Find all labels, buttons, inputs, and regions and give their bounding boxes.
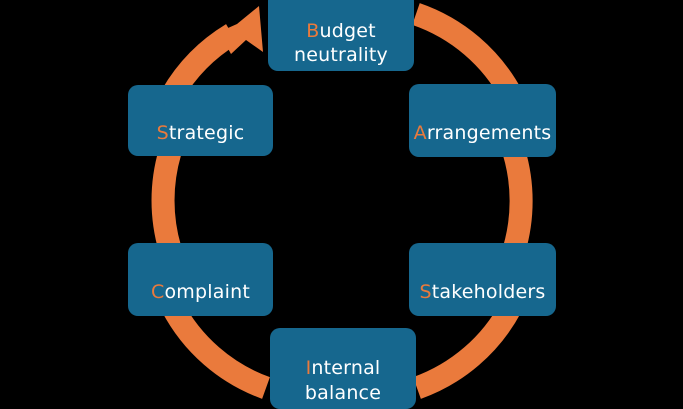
node-arrangements[interactable]: Arrangements [409, 84, 556, 157]
node-arrangements-initial: A [414, 122, 427, 144]
node-strategic[interactable]: Strategic [128, 85, 273, 156]
node-stakeholders-initial: S [420, 281, 432, 303]
node-complaint-text: omplaint [164, 281, 250, 303]
cycle-diagram: Budget neutrality Arrangements Stakehold… [0, 0, 683, 400]
node-complaint[interactable]: Complaint [128, 243, 273, 316]
node-stakeholders[interactable]: Stakeholders [409, 243, 556, 316]
node-strategic-label: Strategic [151, 96, 251, 145]
node-arrangements-text: rrangements [427, 122, 552, 144]
node-strategic-text: trategic [169, 122, 244, 144]
node-stakeholders-text: takeholders [432, 281, 546, 303]
node-internal-balance-label: Internal balance [299, 332, 387, 405]
arc-strategic-to-budget [172, 6, 263, 95]
node-budget-neutrality-label: Budget neutrality [288, 0, 394, 67]
node-budget-neutrality[interactable]: Budget neutrality [268, 0, 414, 71]
node-complaint-initial: C [151, 281, 164, 303]
node-internal-balance[interactable]: Internal balance [270, 328, 416, 409]
node-budget-neutrality-initial: B [306, 20, 319, 42]
arc-complaint-to-strategic [163, 152, 170, 249]
node-stakeholders-label: Stakeholders [414, 255, 552, 304]
arc-arrangements-to-stakeholders [514, 152, 521, 250]
node-strategic-initial: S [157, 122, 169, 144]
node-internal-balance-text: nternal balance [305, 357, 381, 403]
arc-stakeholders-to-internal-balance [417, 307, 511, 388]
node-arrangements-label: Arrangements [408, 96, 558, 145]
node-complaint-label: Complaint [145, 255, 256, 304]
arc-internal-balance-to-complaint [172, 306, 266, 388]
